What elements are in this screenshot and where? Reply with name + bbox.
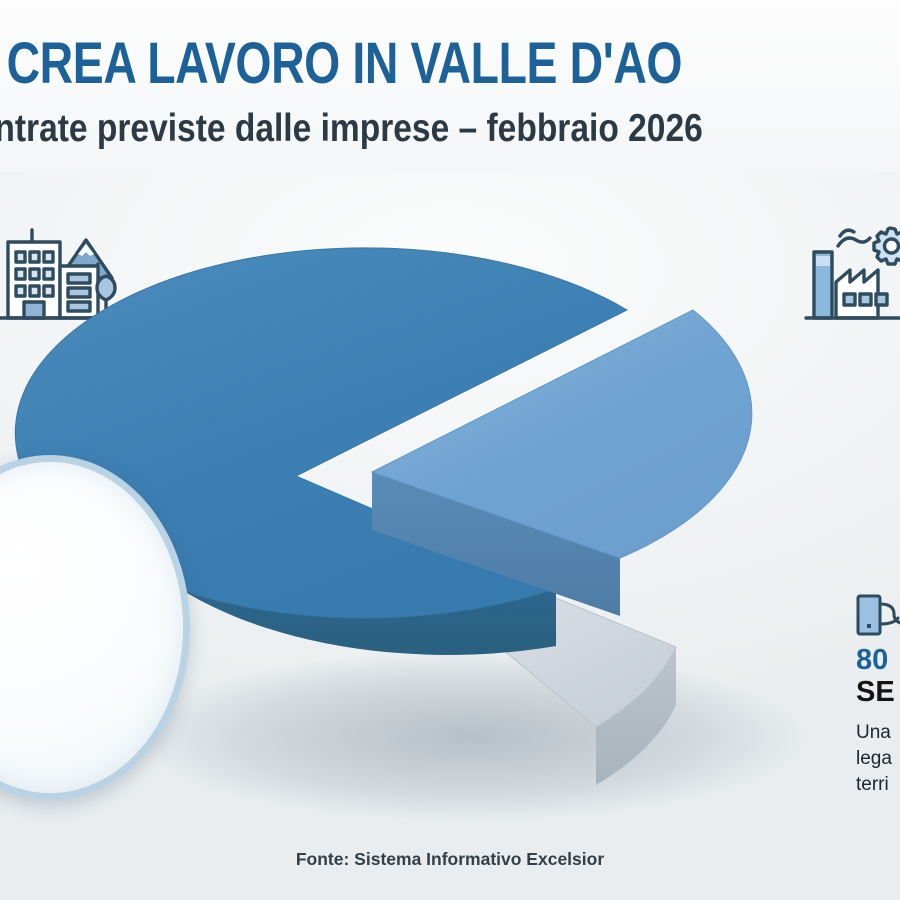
callout-left-heading: RISMO E ORAZIONE: SSUNZIONI [0,566,139,653]
infographic-canvas: E SI CREA LAVORO IN VALLE D'AO Entrate p… [0,0,900,900]
callout-left-body: dei servizi, questo o si conferma il ale… [0,658,149,758]
callout-right-body: Una lega terri [856,720,900,798]
callout-right-body-line1: Una [856,722,891,743]
page-title: E SI CREA LAVORO IN VALLE D'AO [0,33,788,95]
callout-right: 80 SE Una lega terri [854,592,900,812]
callout-right-body-line2: lega [856,748,892,769]
source-note: Fonte: Sistema Informativo Excelsior [0,849,900,870]
callout-right-heading-line2: SE [856,676,900,708]
callout-right-heading-line1: 80 [856,644,900,676]
page-subtitle: Entrate previste dalle imprese – febbrai… [0,107,900,151]
device-icon [854,592,900,640]
callout-left: RISMO E ORAZIONE: SSUNZIONI dei servizi,… [0,455,190,800]
header-banner: E SI CREA LAVORO IN VALLE D'AO Entrate p… [0,0,900,172]
pie-shadow [130,650,810,822]
callout-right-body-line3: terri [856,774,889,795]
callout-right-heading: 80 SE [856,644,900,708]
